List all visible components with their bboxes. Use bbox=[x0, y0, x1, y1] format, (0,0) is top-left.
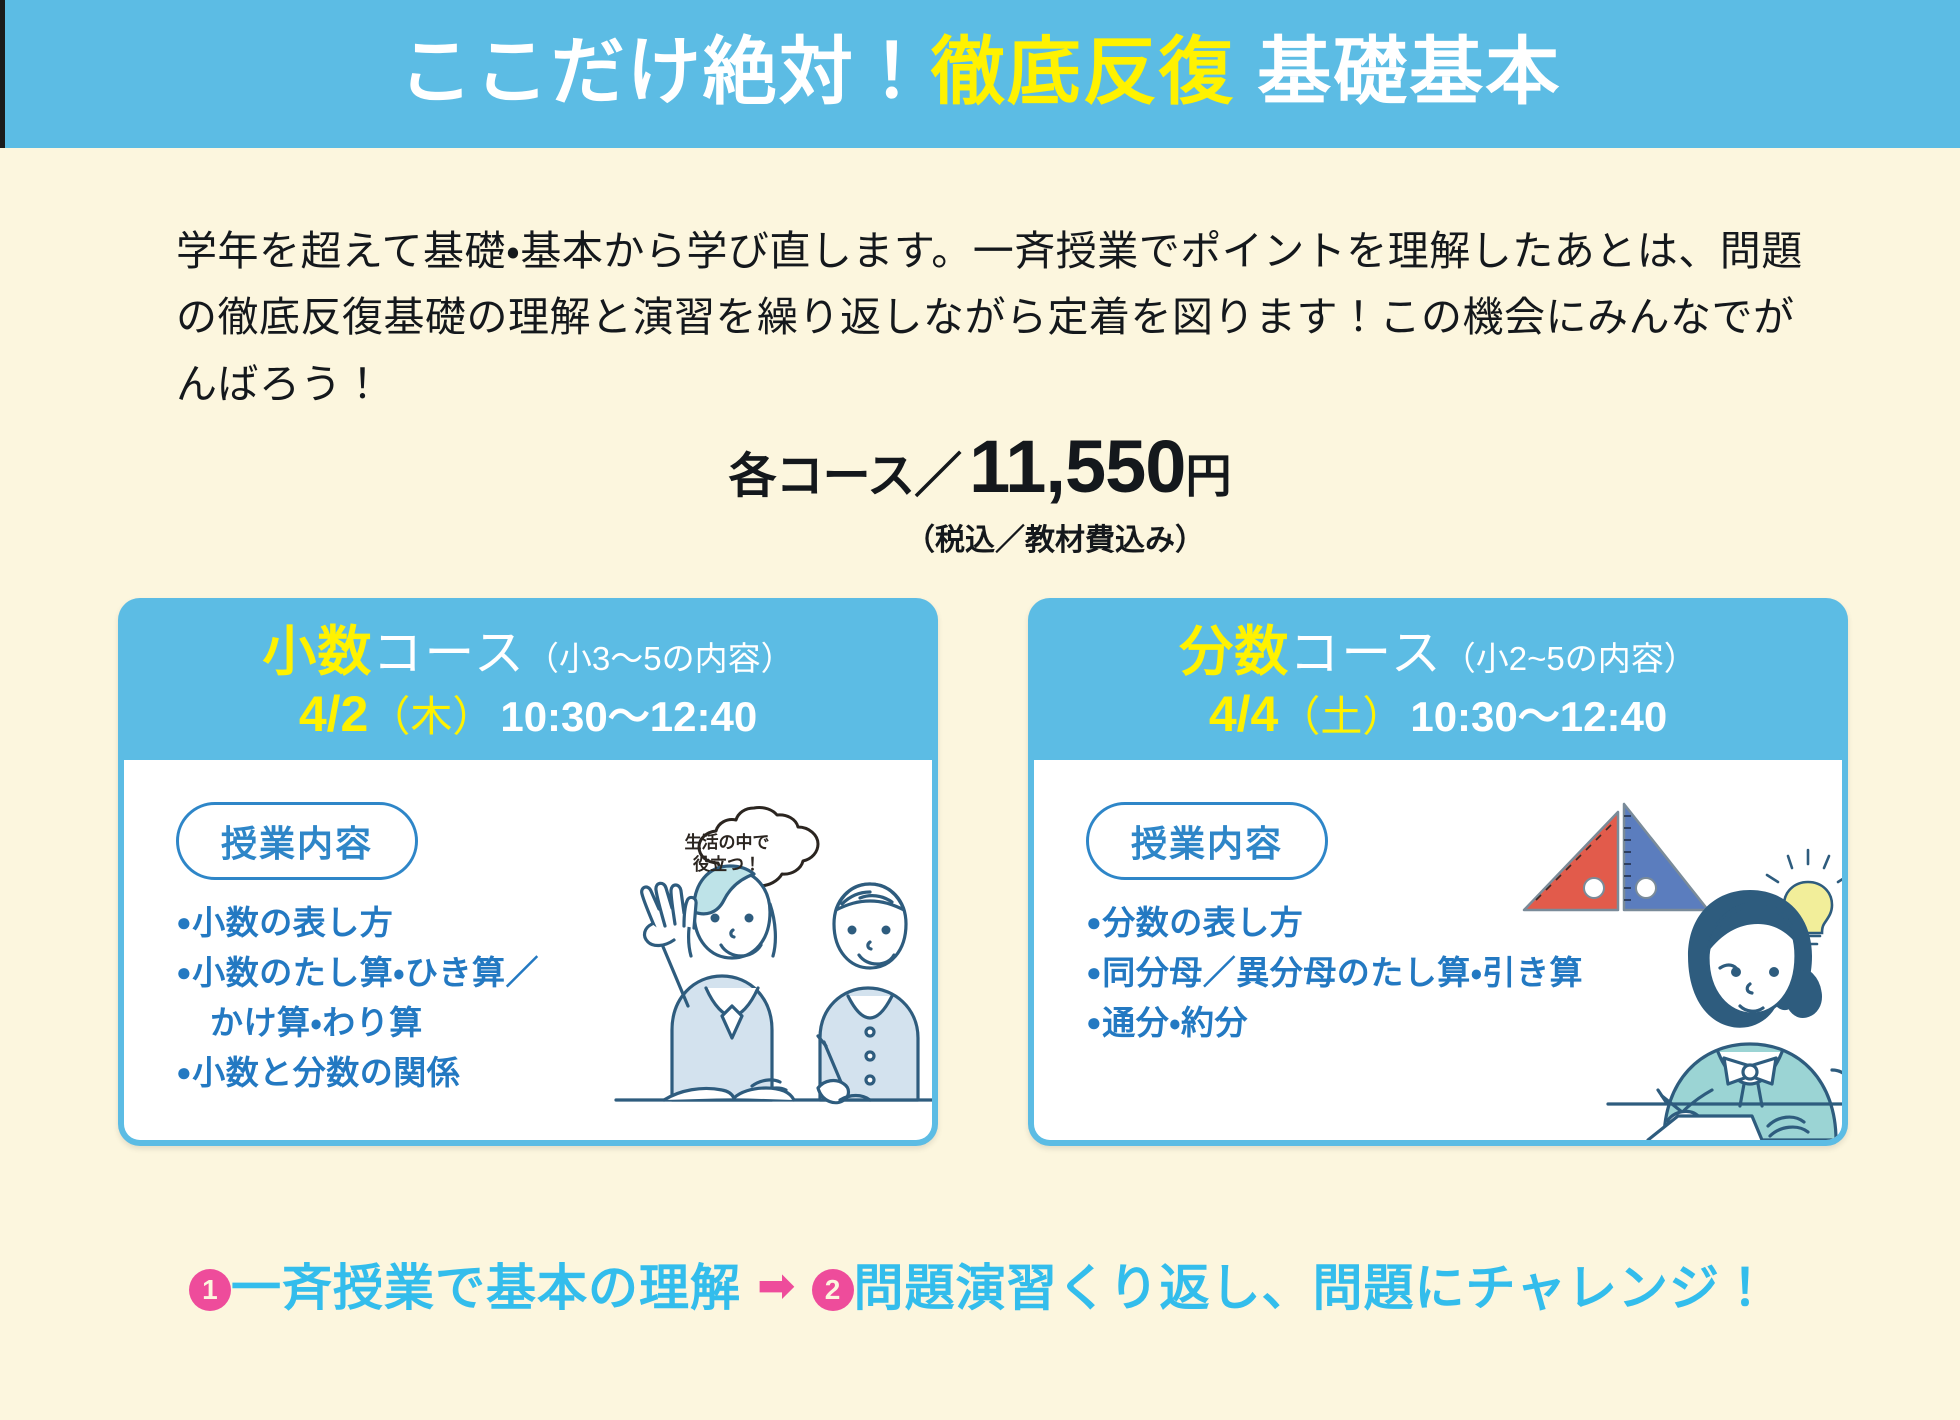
course-date: 4/4 bbox=[1209, 686, 1279, 742]
list-item: ●分数の表し方 bbox=[1086, 898, 1556, 948]
course-time: 10:30〜12:40 bbox=[500, 693, 757, 740]
illustration-student-with-set-squares bbox=[1512, 790, 1842, 1140]
list-item: ●小数と分数の関係 bbox=[176, 1048, 606, 1098]
footer-steps: 1一斉授業で基本の理解➡2問題演習くり返し、問題にチャレンジ！ bbox=[0, 1248, 1960, 1320]
course-name: 分数 bbox=[1179, 622, 1289, 682]
course-time: 10:30〜12:40 bbox=[1410, 693, 1667, 740]
course-card-fractions[interactable]: 分数コース（小2~5の内容） 4/4（土）10:30〜12:40 授業内容 ●分… bbox=[1028, 598, 1848, 1146]
course-card-list: 小数コース（小3〜5の内容） 4/2（木）10:30〜12:40 授業内容 ●小… bbox=[118, 598, 1848, 1146]
title-part-2: 基礎基本 bbox=[1235, 30, 1562, 113]
set-square-blue-icon bbox=[1624, 804, 1708, 910]
course-topic-list: ●分数の表し方 ●同分母／異分母のたし算・引き算 ●通分・約分 bbox=[1086, 898, 1556, 1048]
list-item-label: 同分母／異分母のたし算・引き算 bbox=[1102, 954, 1583, 991]
course-topic-list: ●小数の表し方 ●小数のたし算・ひき算／ かけ算・わり算 ●小数と分数の関係 bbox=[176, 898, 606, 1099]
course-card-body: 授業内容 ●分数の表し方 ●同分母／異分母のたし算・引き算 ●通分・約分 bbox=[1034, 760, 1842, 1140]
course-suffix: コース bbox=[372, 625, 526, 681]
illustration-two-students-raising-hands: 生活の中で 役立つ！ bbox=[602, 800, 932, 1140]
course-card-body: 授業内容 ●小数の表し方 ●小数のたし算・ひき算／ かけ算・わり算 ●小数と分数… bbox=[124, 760, 932, 1140]
bullet-dot-icon: ● bbox=[1086, 907, 1102, 937]
course-suffix: コース bbox=[1289, 625, 1443, 681]
step-2-badge: 2 bbox=[812, 1269, 854, 1311]
list-item-label: 小数の表し方 bbox=[192, 904, 393, 941]
list-item-label: 小数のたし算・ひき算／ bbox=[192, 954, 539, 991]
set-square-red-icon bbox=[1524, 812, 1618, 910]
price-note: （税込／教材費込み） bbox=[0, 515, 1960, 559]
course-card-header: 分数コース（小2~5の内容） 4/4（土）10:30〜12:40 bbox=[1028, 598, 1848, 760]
step-1-badge: 1 bbox=[189, 1269, 231, 1311]
bullet-dot-icon: ● bbox=[1086, 1007, 1102, 1037]
list-item: ●通分・約分 bbox=[1086, 998, 1556, 1048]
list-item-label: 通分・約分 bbox=[1102, 1004, 1248, 1041]
page-title: ここだけ絶対！徹底反復 基礎基本 bbox=[399, 35, 1562, 109]
bullet-dot-icon: ● bbox=[1086, 957, 1102, 987]
section-label-badge: 授業内容 bbox=[176, 802, 418, 880]
course-card-decimals[interactable]: 小数コース（小3〜5の内容） 4/2（木）10:30〜12:40 授業内容 ●小… bbox=[118, 598, 938, 1146]
course-title-row: 小数コース（小3〜5の内容） bbox=[118, 624, 938, 681]
header-banner: ここだけ絶対！徹底反復 基礎基本 bbox=[0, 0, 1960, 148]
course-name: 小数 bbox=[262, 622, 372, 682]
bullet-dot-icon: ● bbox=[176, 907, 192, 937]
list-item: ●同分母／異分母のたし算・引き算 bbox=[1086, 948, 1556, 998]
price-amount: 11,550 bbox=[969, 424, 1185, 509]
list-item-continuation: かけ算・わり算 bbox=[176, 998, 606, 1048]
step-2-label: 問題演習くり返し、問題にチャレンジ！ bbox=[854, 1260, 1772, 1316]
course-title-row: 分数コース（小2~5の内容） bbox=[1028, 624, 1848, 681]
course-date: 4/2 bbox=[299, 686, 369, 742]
bullet-dot-icon: ● bbox=[176, 1057, 192, 1087]
step-1-label: 一斉授業で基本の理解 bbox=[231, 1260, 741, 1316]
bullet-dot-icon: ● bbox=[176, 957, 192, 987]
price-block: 各コース／ 11,550 円 （税込／教材費込み） bbox=[0, 424, 1960, 559]
list-item-label: 分数の表し方 bbox=[1102, 904, 1303, 941]
section-label-badge: 授業内容 bbox=[1086, 802, 1328, 880]
price-label: 各コース／ bbox=[729, 436, 962, 506]
course-schedule-row: 4/4（土）10:30〜12:40 bbox=[1028, 687, 1848, 742]
price-line: 各コース／ 11,550 円 bbox=[729, 424, 1232, 509]
course-grade-range: （小2~5の内容） bbox=[1443, 640, 1697, 677]
title-part-1: ここだけ絶対！ bbox=[399, 30, 931, 113]
course-card-header: 小数コース（小3〜5の内容） 4/2（木）10:30〜12:40 bbox=[118, 598, 938, 760]
banner-left-edge bbox=[0, 0, 5, 148]
list-item-label: 小数と分数の関係 bbox=[192, 1054, 460, 1091]
speech-bubble-line-2: 役立つ！ bbox=[692, 854, 761, 874]
course-day: （土） bbox=[1278, 693, 1404, 740]
title-highlight: 徹底反復 bbox=[931, 30, 1235, 113]
speech-bubble-line-1: 生活の中で bbox=[685, 832, 770, 852]
intro-paragraph: 学年を超えて基礎・基本から学び直します。一斉授業でポイントを理解したあとは、問題… bbox=[176, 218, 1806, 417]
list-item: ●小数の表し方 bbox=[176, 898, 606, 948]
course-day: （木） bbox=[368, 693, 494, 740]
arrow-right-icon: ➡ bbox=[757, 1259, 796, 1311]
list-item: ●小数のたし算・ひき算／ bbox=[176, 948, 606, 998]
price-unit: 円 bbox=[1185, 440, 1231, 506]
course-grade-range: （小3〜5の内容） bbox=[526, 640, 794, 677]
course-schedule-row: 4/2（木）10:30〜12:40 bbox=[118, 687, 938, 742]
